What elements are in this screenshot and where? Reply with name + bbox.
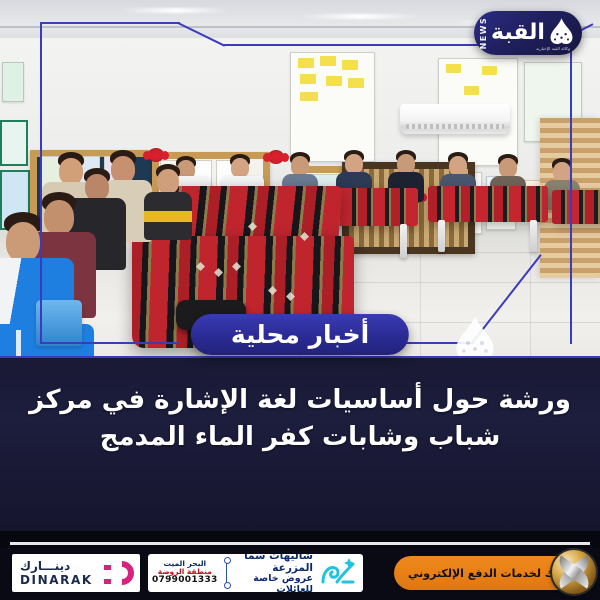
- frame-line-left: [40, 22, 42, 342]
- table-cloth: [552, 190, 600, 224]
- sama-line-2: عروض خاصة للعائلات: [230, 574, 313, 592]
- sticky-note: [298, 58, 314, 68]
- wall-poster: [2, 62, 24, 102]
- sponsor-sama[interactable]: البحر الميت منطقة الروضة 0799001333 شالي…: [148, 554, 363, 592]
- dinarak-name-arabic: دينـــارك: [20, 560, 70, 572]
- dinarak-name-english: DINARAK: [20, 574, 93, 586]
- decoration-bow: [268, 150, 284, 164]
- ceiling-light: [300, 14, 420, 19]
- sticky-note: [464, 86, 479, 95]
- sama-logo-icon: [319, 556, 359, 590]
- wall-poster: [290, 52, 375, 162]
- rahtak-logo-icon: [552, 550, 596, 594]
- table-leg: [530, 220, 537, 252]
- category-badge[interactable]: أخبار محلية: [191, 314, 409, 355]
- frame-line-bottom: [40, 342, 180, 344]
- headline: ورشة حول أساسيات لغة الإشارة في مركز شبا…: [0, 382, 600, 456]
- frame-line-right: [570, 22, 572, 344]
- frame-line-top: [40, 22, 180, 24]
- chair: [36, 300, 82, 346]
- decoration-bow: [148, 148, 164, 162]
- bottom-separator: [10, 542, 590, 545]
- channel-logo[interactable]: NEWS القبة وكالة القبة الإخبارية: [474, 11, 582, 55]
- sticky-note: [342, 60, 358, 70]
- air-conditioner: [400, 104, 510, 134]
- table-leg: [438, 220, 445, 252]
- sticky-note: [300, 74, 316, 84]
- dinarak-logo-icon: [104, 559, 134, 587]
- sama-divider: [226, 560, 227, 586]
- news-card: NEWS القبة وكالة القبة الإخبارية أخبار م…: [0, 0, 600, 600]
- band-top-rule: [0, 356, 600, 358]
- table-leg: [400, 224, 407, 258]
- logo-subtitle: وكالة القبة الإخبارية: [536, 46, 570, 51]
- logo-news-label: NEWS: [479, 17, 488, 49]
- wall-artwork: [0, 120, 28, 166]
- sticky-note: [300, 92, 318, 101]
- sticky-note: [348, 78, 364, 88]
- sama-line-1: شاليهات سما المزرعة: [230, 554, 313, 574]
- ceiling-light: [120, 8, 230, 13]
- sticky-note: [482, 66, 497, 75]
- sama-phone: 0799001333: [152, 576, 218, 586]
- sticky-note: [446, 64, 461, 73]
- logo-brand-arabic: القبة: [491, 22, 545, 44]
- sticky-note: [320, 56, 336, 66]
- dome-icon: [548, 18, 575, 48]
- sponsor-dinarak[interactable]: دينـــارك DINARAK: [12, 554, 140, 592]
- table-cloth: [428, 186, 548, 222]
- category-label: أخبار محلية: [231, 322, 369, 347]
- sticky-note: [326, 76, 342, 86]
